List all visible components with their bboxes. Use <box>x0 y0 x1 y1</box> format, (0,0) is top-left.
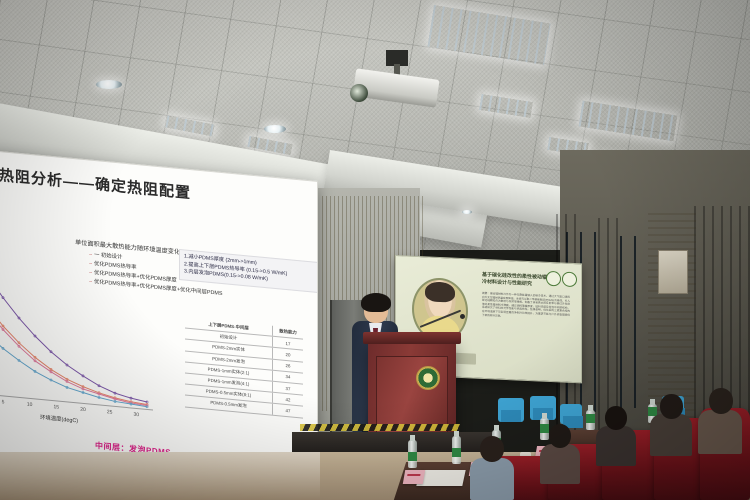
photo-scene: 热阻分析——确定热阻配置 单位面积最大散热能力随环境温度变化 –一 初始设计 –… <box>0 0 750 500</box>
chart-canvas <box>0 267 153 435</box>
name-placard <box>403 470 425 484</box>
water-bottle <box>408 440 417 468</box>
recessed-downlight <box>264 125 286 133</box>
audience-member <box>596 406 636 466</box>
bullet-dash-icon: – <box>89 269 92 275</box>
chart-x-tick-label: 5 <box>2 399 5 405</box>
university-seal-icon <box>562 272 577 288</box>
audience-head <box>605 406 627 430</box>
water-bottle <box>452 436 461 464</box>
audience-head <box>709 388 733 414</box>
recessed-downlight <box>96 80 122 89</box>
chart-x-tick-label: 10 <box>27 402 33 409</box>
audience-member <box>470 436 514 500</box>
slide-data-table: 上下层PDMS-中间层 散热能力 初始设计17 PDMS-2mm实体20 PDM… <box>185 318 303 419</box>
chart-x-tick-label: 25 <box>107 409 113 416</box>
audience-member <box>698 388 742 454</box>
audience-head <box>549 424 571 448</box>
audience-torso <box>470 458 514 500</box>
wall-cabinet <box>658 250 688 294</box>
portrait-hair <box>425 281 455 302</box>
audience-member <box>650 394 692 456</box>
audience-head <box>660 394 683 419</box>
audience-member <box>540 424 580 484</box>
floor-reflection <box>0 452 320 500</box>
chart-x-tick-label: 20 <box>80 407 86 414</box>
chart-x-tick-label: 30 <box>134 412 140 419</box>
slide-title: 热阻分析——确定热阻配置 <box>0 164 191 203</box>
blue-stool <box>498 398 524 422</box>
line-chart: 51015202530 环境温度(degC) <box>0 267 153 435</box>
secondary-slide-body: 摘要：被动辐射制冷作为一种无需能量输入的制冷技术，通过大气窗口波段向外太空辐射热… <box>482 292 570 321</box>
slide-surface: 热阻分析——确定热阻配置 单位面积最大散热能力随环境温度变化 –一 初始设计 –… <box>0 150 318 499</box>
audience-head <box>480 436 504 462</box>
audience-torso <box>596 426 636 466</box>
audience-torso <box>540 444 580 484</box>
bullet-dash-icon: – <box>89 251 92 257</box>
stage-riser <box>292 432 492 454</box>
hazard-stripe-tape <box>300 424 460 431</box>
university-seal-icon <box>546 271 561 287</box>
blue-stool <box>560 404 582 424</box>
bullet-dash-icon: – <box>89 260 92 266</box>
recessed-downlight <box>462 210 472 214</box>
audience-torso <box>698 410 742 454</box>
institution-emblem-icon <box>416 366 440 390</box>
microphone-head <box>460 314 465 319</box>
main-projection-screen: 热阻分析——确定热阻配置 单位面积最大散热能力随环境温度变化 –一 初始设计 –… <box>0 150 318 499</box>
chart-x-tick-label: 15 <box>54 404 60 411</box>
presenter-hair <box>361 293 391 312</box>
water-bottle <box>586 410 595 430</box>
ceiling-projector <box>348 58 448 110</box>
podium-top <box>363 332 461 344</box>
audience-torso <box>650 414 692 456</box>
projector-lens <box>350 84 368 102</box>
